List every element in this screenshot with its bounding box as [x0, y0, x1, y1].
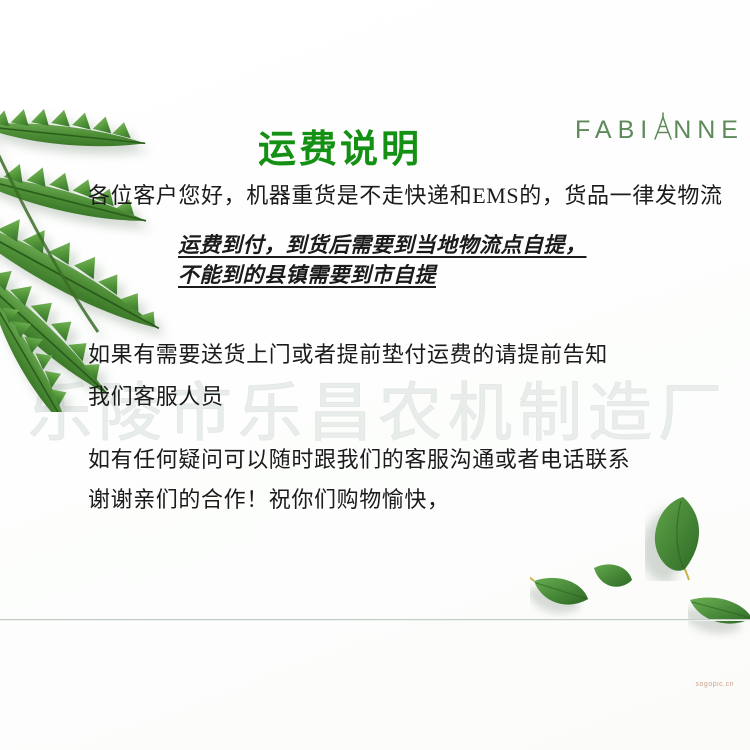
notice-emphasis-block: 运费到付，到货后需要到当地物流点自提， 不能到的县镇需要到市自提 — [178, 230, 587, 290]
paragraph-2-line-1: 如果有需要送货上门或者提前垫付运费的请提前告知 — [88, 334, 608, 376]
brand-suffix: NNE — [673, 116, 744, 145]
floating-leaf-b — [592, 560, 634, 600]
emphasis-line-1: 运费到付，到货后需要到当地物流点自提， — [178, 230, 587, 260]
notice-paragraph-3: 如有任何疑问可以随时跟我们的客服沟通或者电话联系 谢谢亲们的合作！祝你们购物愉快… — [88, 440, 630, 520]
eiffel-tower-icon — [653, 112, 673, 138]
emphasis-line-2: 不能到的县镇需要到市自提 — [178, 260, 436, 290]
brand-prefix: FABI — [575, 116, 653, 145]
paragraph-3-line-2: 谢谢亲们的合作！祝你们购物愉快， — [88, 480, 630, 520]
notice-paragraph-2: 如果有需要送货上门或者提前垫付运费的请提前告知 我们客服人员 — [88, 334, 608, 418]
page-title: 运费说明 — [258, 118, 422, 173]
shipping-notice-page: 乐陵市乐昌农机制造厂 — [0, 0, 750, 750]
paragraph-3-line-1: 如有任何疑问可以随时跟我们的客服沟通或者电话联系 — [88, 440, 630, 480]
footer-divider — [0, 619, 750, 621]
floating-leaf-d — [688, 596, 750, 640]
brand-logo: FABI NNE — [575, 112, 744, 145]
floating-leaf-a — [645, 495, 709, 581]
floating-leaf-c — [530, 575, 592, 619]
source-watermark: sogopic.cn — [696, 681, 734, 688]
paragraph-2-line-2: 我们客服人员 — [88, 376, 608, 418]
notice-paragraph-1: 各位客户您好，机器重货是不走快递和EMS的，货品一律发物流 — [88, 178, 723, 210]
